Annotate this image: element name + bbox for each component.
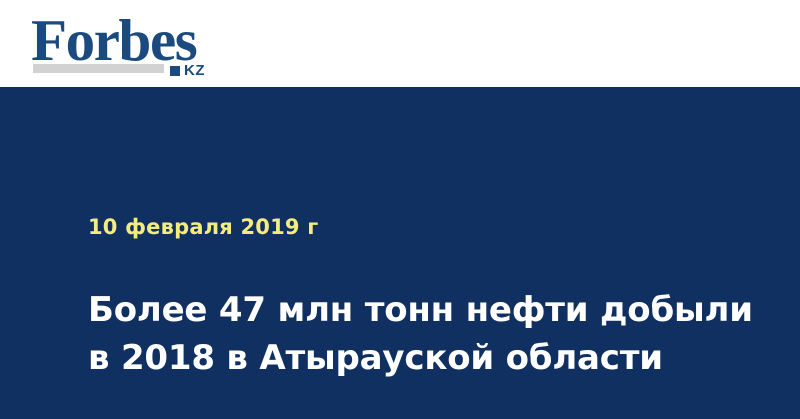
forbes-kz-logo[interactable]: Forbes KZ — [31, 11, 231, 77]
blue-square-icon — [170, 66, 180, 76]
page-root: Forbes KZ 10 февраля 2019 г Более 47 млн… — [0, 0, 800, 419]
logo-kz-mark: KZ — [170, 63, 205, 78]
page-title-line-1: Более 47 млн тонн нефти добыли — [88, 286, 728, 334]
forbes-wordmark: Forbes — [31, 11, 196, 70]
article-hero: 10 февраля 2019 г Более 47 млн тонн нефт… — [0, 87, 800, 419]
site-header: Forbes KZ — [0, 0, 800, 87]
page-title-line-2: в 2018 в Атырауской области — [88, 334, 728, 382]
logo-country-code: KZ — [184, 63, 205, 78]
article-date: 10 февраля 2019 г — [88, 214, 318, 240]
logo-rule-divider — [33, 64, 164, 73]
page-title: Более 47 млн тонн нефти добыли в 2018 в … — [88, 286, 728, 382]
